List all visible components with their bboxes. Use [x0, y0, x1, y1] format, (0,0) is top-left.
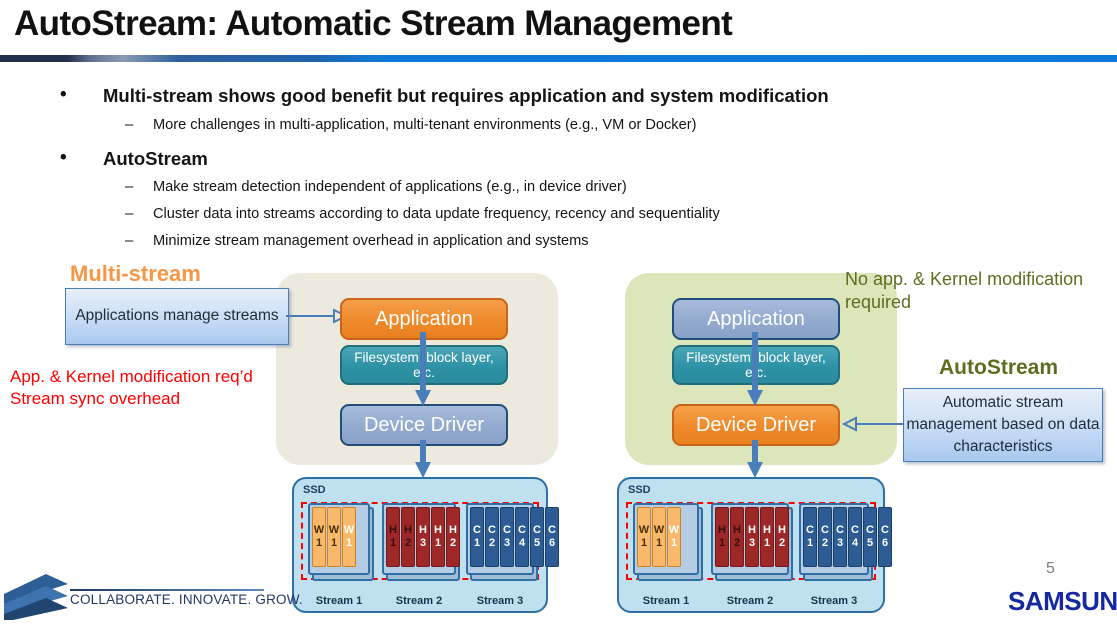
ssd-block-letter: H: [434, 524, 442, 537]
page-number: 5: [1046, 560, 1055, 578]
ssd-block: H2: [446, 507, 460, 567]
bullet-level2-1: – More challenges in multi-application, …: [153, 117, 696, 133]
multi-stream-heading: Multi-stream: [70, 261, 201, 287]
ssd-block-letter: C: [821, 524, 829, 537]
ssd-block-letter: W: [639, 524, 649, 537]
ssd-block: H2: [730, 507, 744, 567]
ssd-block: C4: [848, 507, 862, 567]
ssd-block-letter: C: [851, 524, 859, 537]
ssd-block-number: 1: [807, 537, 813, 550]
ssd-block: C1: [470, 507, 484, 567]
ssd-block: H2: [401, 507, 415, 567]
applications-manage-streams-callout: Applications manage streams: [65, 288, 289, 345]
ssd-block: W1: [312, 507, 326, 567]
stream-blocks: H1H2H3H1H2: [386, 507, 460, 567]
ssd-block: W1: [342, 507, 356, 567]
ssd-block: H2: [775, 507, 789, 567]
ssd-right: SSD W1W1W1 H1H2H3H1H2 C1C2C3C4C5C6 Strea…: [617, 477, 885, 613]
bullet-text: Cluster data into streams according to d…: [153, 206, 720, 222]
ssd-block-letter: C: [503, 524, 511, 537]
stream-blocks: H1H2H3H1H2: [715, 507, 789, 567]
bullet-marker: •: [60, 84, 67, 106]
ssd-block: W1: [652, 507, 666, 567]
ssd-block-number: 4: [519, 537, 525, 550]
ssd-block-number: 1: [346, 537, 352, 550]
flash-memory-summit-logo-icon: [2, 572, 70, 620]
ssd-block-number: 6: [549, 537, 555, 550]
ssd-block: C2: [818, 507, 832, 567]
ssd-block-number: 2: [734, 537, 740, 550]
ssd-label: SSD: [303, 484, 326, 496]
ssd-block: W1: [667, 507, 681, 567]
ssd-block-number: 2: [450, 537, 456, 550]
ssd-block-letter: H: [748, 524, 756, 537]
stream-blocks: C1C2C3C4C5C6: [803, 507, 892, 567]
ssd-block: H1: [386, 507, 400, 567]
ssd-block-letter: H: [419, 524, 427, 537]
stream-column: C1C2C3C4C5C6: [799, 503, 869, 575]
bullet-text: More challenges in multi-application, mu…: [153, 117, 696, 133]
ssd-block-number: 5: [534, 537, 540, 550]
ssd-block: H1: [715, 507, 729, 567]
ssd-block-number: 2: [489, 537, 495, 550]
stream-name: Stream 2: [711, 595, 789, 607]
ssd-block: C3: [833, 507, 847, 567]
autostream-heading: AutoStream: [939, 356, 1058, 380]
stream-name: Stream 2: [382, 595, 456, 607]
arrow-right-driver-to-ssd: [746, 440, 764, 480]
callout-text: Automatic stream management based on dat…: [904, 392, 1102, 458]
ssd-block-letter: C: [866, 524, 874, 537]
ssd-block-number: 1: [641, 537, 647, 550]
page-title: AutoStream: Automatic Stream Management: [14, 4, 732, 44]
bullet-marker: –: [125, 232, 133, 249]
bullet-marker: •: [60, 147, 67, 169]
ssd-block-number: 2: [405, 537, 411, 550]
ssd-block-letter: C: [488, 524, 496, 537]
ssd-block: C2: [485, 507, 499, 567]
ssd-block: C1: [803, 507, 817, 567]
ssd-block: C6: [878, 507, 892, 567]
stream-column: H1H2H3H1H2: [711, 503, 789, 575]
ssd-block-number: 5: [867, 537, 873, 550]
slide-root: AutoStream: Automatic Stream Management …: [0, 0, 1117, 626]
bullet-marker: –: [125, 116, 133, 133]
ssd-block-letter: C: [836, 524, 844, 537]
ssd-block-number: 1: [316, 537, 322, 550]
bullet-level2-5: – Minimize stream management overhead in…: [153, 233, 589, 249]
ssd-block-number: 1: [764, 537, 770, 550]
ssd-block-number: 2: [779, 537, 785, 550]
bullet-text: AutoStream: [103, 148, 208, 169]
box-label: Application: [707, 308, 805, 331]
ssd-block: C3: [500, 507, 514, 567]
box-label: Device Driver: [364, 414, 484, 437]
bullet-text: Multi-stream shows good benefit but requ…: [103, 85, 829, 106]
ssd-block-number: 3: [504, 537, 510, 550]
stream-blocks: W1W1W1: [312, 507, 356, 567]
box-label: Application: [375, 308, 473, 331]
footer-tagline: COLLABORATE. INNOVATE. GROW.: [70, 592, 303, 607]
bullet-marker: –: [125, 205, 133, 222]
automatic-stream-management-callout: Automatic stream management based on dat…: [903, 388, 1103, 462]
ssd-block-number: 4: [852, 537, 858, 550]
ssd-block: C4: [515, 507, 529, 567]
no-modification-note: No app. & Kernel modification required: [845, 268, 1105, 314]
ssd-block-number: 1: [474, 537, 480, 550]
ssd-block-letter: C: [806, 524, 814, 537]
ssd-label: SSD: [628, 484, 651, 496]
arrow-left-app-to-driver: [414, 332, 432, 408]
ssd-block-letter: C: [473, 524, 481, 537]
ssd-block-letter: W: [654, 524, 664, 537]
ssd-block-letter: H: [778, 524, 786, 537]
stream-name: Stream 3: [799, 595, 869, 607]
ssd-block: W1: [327, 507, 341, 567]
bullet-text: Make stream detection independent of app…: [153, 179, 627, 195]
ssd-block: H1: [431, 507, 445, 567]
ssd-block-letter: H: [733, 524, 741, 537]
ssd-block-number: 1: [671, 537, 677, 550]
ssd-block-letter: H: [404, 524, 412, 537]
warning-line-1: App. & Kernel modification req’d: [10, 366, 340, 388]
ssd-block-number: 1: [331, 537, 337, 550]
arrow-callout-to-device-driver: [836, 416, 904, 432]
samsung-logo: SAMSUNG: [1008, 586, 1117, 617]
ssd-block-letter: H: [718, 524, 726, 537]
stream-column: W1W1W1: [308, 503, 370, 575]
multi-stream-warning: App. & Kernel modification req’d Stream …: [10, 366, 340, 410]
ssd-block-letter: C: [533, 524, 541, 537]
stream-column: C1C2C3C4C5C6: [466, 503, 534, 575]
arrow-callout-to-application: [286, 308, 346, 324]
ssd-block-number: 1: [435, 537, 441, 550]
bullet-level1-0: • Multi-stream shows good benefit but re…: [103, 85, 829, 107]
ssd-block-number: 3: [749, 537, 755, 550]
ssd-block-letter: H: [763, 524, 771, 537]
arrow-right-app-to-driver: [746, 332, 764, 408]
bullet-level2-3: – Make stream detection independent of a…: [153, 179, 627, 195]
stream-blocks: W1W1W1: [637, 507, 681, 567]
ssd-block-number: 1: [719, 537, 725, 550]
ssd-block-number: 3: [837, 537, 843, 550]
bullet-marker: –: [125, 178, 133, 195]
arrow-left-driver-to-ssd: [414, 440, 432, 480]
stream-name: Stream 1: [308, 595, 370, 607]
ssd-block-letter: H: [449, 524, 457, 537]
ssd-block-number: 1: [656, 537, 662, 550]
ssd-block-letter: C: [881, 524, 889, 537]
stream-name: Stream 3: [466, 595, 534, 607]
callout-text: Applications manage streams: [75, 306, 278, 327]
stream-name: Stream 1: [633, 595, 699, 607]
warning-line-2: Stream sync overhead: [10, 388, 340, 410]
ssd-block: H1: [760, 507, 774, 567]
ssd-block-number: 1: [390, 537, 396, 550]
ssd-block-number: 6: [882, 537, 888, 550]
bullet-level2-4: – Cluster data into streams according to…: [153, 206, 720, 222]
stream-blocks: C1C2C3C4C5C6: [470, 507, 559, 567]
bullet-text: Minimize stream management overhead in a…: [153, 233, 589, 249]
footer-rule: [70, 589, 264, 591]
ssd-block: C6: [545, 507, 559, 567]
ssd-block-number: 3: [420, 537, 426, 550]
bullet-level1-2: • AutoStream: [103, 148, 208, 170]
ssd-block: C5: [530, 507, 544, 567]
ssd-block-letter: W: [344, 524, 354, 537]
ssd-block-letter: H: [389, 524, 397, 537]
ssd-block-letter: C: [548, 524, 556, 537]
stream-column: W1W1W1: [633, 503, 699, 575]
title-divider: [0, 55, 1117, 62]
ssd-block: C5: [863, 507, 877, 567]
ssd-block: W1: [637, 507, 651, 567]
ssd-left: SSD W1W1W1 H1H2H3H1H2 C1C2C3C4C5C6 Strea…: [292, 477, 548, 613]
ssd-block-letter: W: [329, 524, 339, 537]
box-label: Device Driver: [696, 414, 816, 437]
ssd-block-number: 2: [822, 537, 828, 550]
ssd-block: H3: [416, 507, 430, 567]
ssd-block-letter: W: [314, 524, 324, 537]
ssd-block: H3: [745, 507, 759, 567]
stream-column: H1H2H3H1H2: [382, 503, 456, 575]
ssd-block-letter: C: [518, 524, 526, 537]
ssd-block-letter: W: [669, 524, 679, 537]
